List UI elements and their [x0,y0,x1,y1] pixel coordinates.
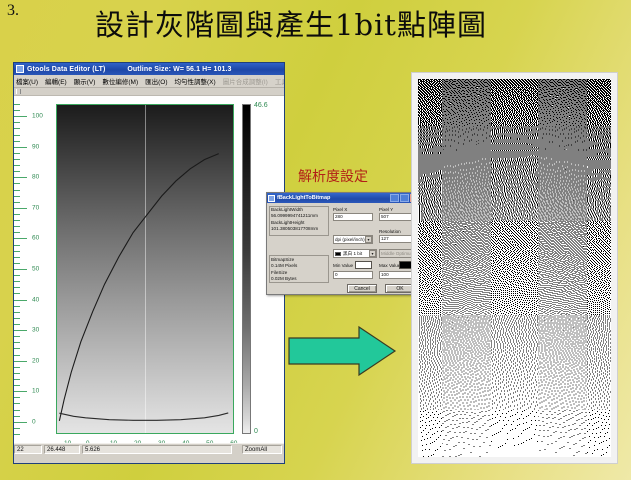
pixel-x-label: Pixel X [333,207,347,212]
y-axis-tick-label: 40 [32,296,39,303]
right-arrow-icon [287,325,397,377]
menu-item-file[interactable]: 檔案(U) [16,76,38,86]
color-depth-dropdown[interactable]: 黑白 1 bit ▾ [333,249,377,258]
y-axis-tick-label: 50 [32,266,39,273]
backlight-width-label: BackLightWidth [271,207,303,212]
pixel-y-label: Pixel Y [379,207,393,212]
scale-min-label: 0 [254,428,258,435]
chevron-down-icon[interactable]: ▾ [369,250,376,257]
color-depth-value: 黑白 1 bit [343,250,362,257]
maximize-icon[interactable] [400,194,409,202]
status-cell-2: 26.448 [44,445,80,454]
page-title: 設計灰階圖與產生1bit點陣圖 [95,8,555,42]
optimum-value: Middle Optimum [381,250,414,257]
status-bar: 22 26.448 5.626 ZoomAll [14,443,284,454]
backlight-height-label: BackLightHeight [271,220,304,225]
cancel-button[interactable]: Cancel [347,284,377,293]
menu-item-edit[interactable]: 編輯(E) [45,76,67,86]
min-value-input[interactable]: 0 [333,271,373,279]
y-axis-tick-label: 20 [32,357,39,364]
y-axis-tick-label: 0 [32,418,36,425]
y-axis-tick-label: 10 [32,388,39,395]
file-size-label: FileSize [271,270,287,275]
slide-number: 3. [7,2,19,20]
bitmap-size-label: BitmapSize [271,257,294,262]
max-value-label: Max Value [379,263,400,268]
y-axis-tick-label: 100 [32,113,43,120]
plot-curves [57,105,233,433]
toolbar-strip [14,88,284,96]
backlight-width-value: 56.0999994741211mm [271,213,318,218]
scale-max-label: 46.6 [254,102,268,109]
gtools-data-editor-window[interactable]: Gtools Data Editor (LT) Outline Size: W=… [13,62,285,464]
min-value-label: Min Value [333,263,353,268]
plot-series-baseline-curve [59,413,228,420]
chevron-down-icon[interactable]: ▾ [365,236,372,243]
dialog-title: fBackLightToBitmap [277,195,330,201]
bitmap-output-panel [411,72,618,464]
unit-dropdown[interactable]: dpi (pixel/inch) ▾ [333,235,373,244]
menu-item-tools: 工具 [275,76,284,86]
plot-series-gray-level-curve [59,154,218,421]
resolution-label: Resolution [379,229,401,234]
status-zoom-cell: ZoomAll [242,445,282,454]
unit-dropdown-value: dpi (pixel/inch) [335,236,365,243]
resolution-annotation: 解析度設定 [298,166,368,186]
app-icon [16,65,24,73]
bitmap-size-value: 0.14M Pixels [271,263,297,268]
chart-canvas[interactable]: 0102030405060708090100 -100102030405060 … [14,96,284,454]
menu-item-image-composite: 圖片合成調整(I) [223,76,268,86]
pixel-x-input[interactable]: 280 [333,213,373,221]
outline-size-readout: Outline Size: W= 56.1 H= 101.3 [127,66,231,73]
y-axis-tick-label: 30 [32,327,39,334]
menu-item-uniformity[interactable]: 均勻性調整(X) [175,76,216,86]
min-value-color-swatch[interactable] [355,261,372,269]
dialog-body: BackLightWidth 56.0999994741211mm BackLi… [267,203,420,296]
status-cell-1: 22 [14,445,42,454]
vertical-ruler: 0102030405060708090100 [14,96,30,454]
window-titlebar: Gtools Data Editor (LT) Outline Size: W=… [14,63,284,75]
toolbar-grip[interactable] [16,89,21,94]
dithered-bitmap-canvas [418,79,611,457]
dialog-icon [268,195,275,202]
bw-swatch-icon [335,252,341,256]
backlight-to-bitmap-dialog[interactable]: fBackLightToBitmap BackLightWidth 56.099… [266,192,421,295]
y-axis-tick-label: 80 [32,174,39,181]
menu-item-export[interactable]: 匯出(O) [145,76,167,86]
gray-scale-strip [242,104,251,434]
y-axis-tick-label: 70 [32,204,39,211]
file-size-value: 0.02M Bytes [271,276,297,281]
menu-item-view[interactable]: 顯示(V) [74,76,96,86]
backlight-height-value: 101.380503817708mm [271,226,318,231]
y-axis-tick-label: 60 [32,235,39,242]
bitmap-output-image [418,79,611,457]
menu-bar[interactable]: 檔案(U) 編輯(E) 顯示(V) 數位編修(M) 匯出(O) 均勻性調整(X)… [14,75,284,88]
y-axis-tick-label: 90 [32,143,39,150]
status-cell-3: 5.626 [82,445,232,454]
minimize-icon[interactable] [390,194,399,202]
window-title: Gtools Data Editor (LT) [27,66,105,73]
dialog-titlebar: fBackLightToBitmap [267,193,420,203]
menu-item-digital-edit[interactable]: 數位編修(M) [102,76,138,86]
gradient-plot-box[interactable] [56,104,234,434]
